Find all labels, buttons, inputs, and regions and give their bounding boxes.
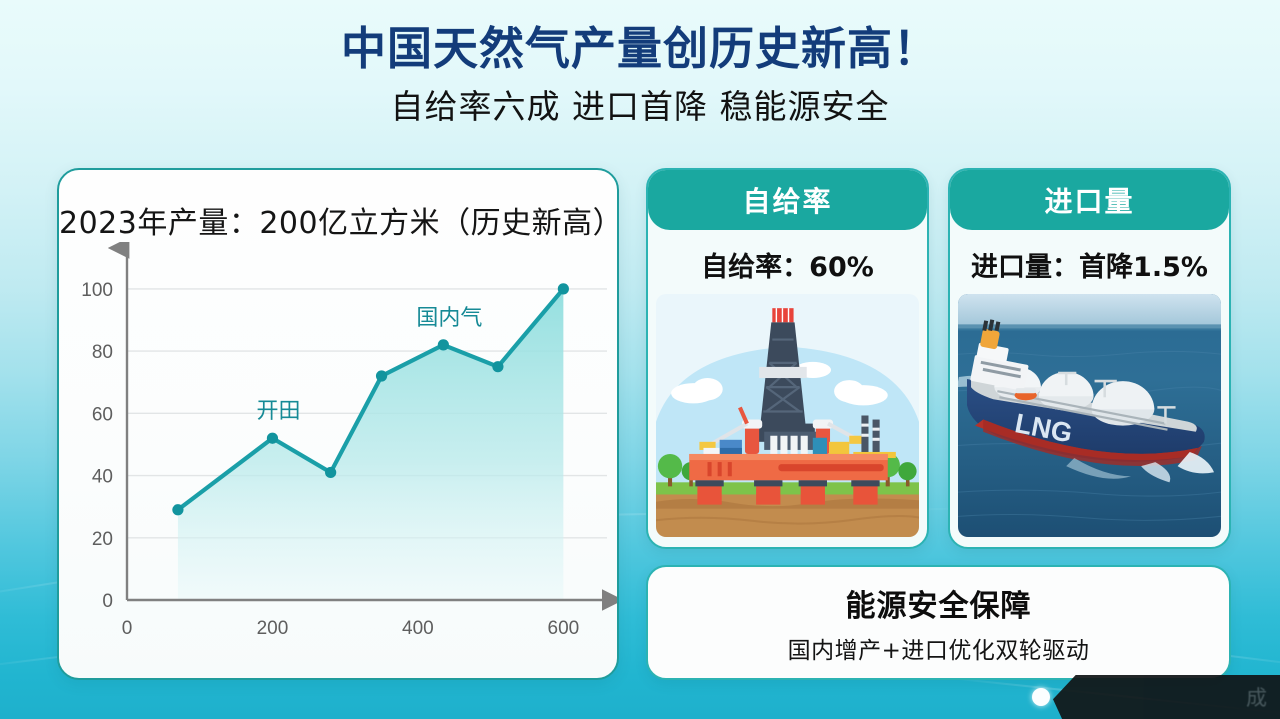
chart-title: 2023年产量：200亿立方米（历史新高） (59, 198, 617, 242)
energy-security-card: 能源安全保障 国内增产+进口优化双轮驱动 (646, 565, 1231, 680)
drilling-rig-illustration (656, 294, 919, 537)
chart-area-fill (178, 289, 563, 600)
x-axis-tick-label: 600 (548, 618, 580, 639)
y-axis-tick-label: 0 (102, 591, 113, 612)
page-title: 中国天然气产量创历史新高！ (0, 22, 1280, 75)
chart-annotation: 开田 (256, 399, 300, 424)
chart-data-point (376, 370, 387, 381)
header: 中国天然气产量创历史新高！ 自给率六成 进口首降 稳能源安全 (0, 22, 1280, 127)
x-axis-tick-label: 200 (257, 618, 289, 639)
y-axis-tick-label: 60 (92, 404, 113, 425)
energy-security-subtitle: 国内增产+进口优化双轮驱动 (788, 631, 1090, 665)
panel-imports-header-label: 进口量 (1044, 180, 1134, 220)
energy-security-title: 能源安全保障 (846, 581, 1032, 625)
y-axis-tick-label: 80 (92, 342, 113, 363)
y-axis-tick-label: 100 (81, 280, 113, 301)
chart-data-point (267, 433, 278, 444)
chart-data-point (172, 504, 183, 515)
y-axis-tick-label: 40 (92, 467, 113, 488)
watermark-badge: 成 (1053, 675, 1280, 719)
panel-self-sufficiency-stat: 自给率：60% (648, 245, 927, 284)
panel-self-sufficiency-header-label: 自给率 (742, 180, 832, 220)
panel-self-sufficiency: 自给率 自给率：60% (646, 168, 929, 549)
watermark-label: 成 (1246, 682, 1270, 712)
y-axis-tick-label: 20 (92, 529, 113, 550)
page-subtitle: 自给率六成 进口首降 稳能源安全 (0, 87, 1280, 127)
chart-data-point (492, 361, 503, 372)
panel-self-sufficiency-header: 自给率 (648, 170, 927, 230)
chart-data-point (438, 339, 449, 350)
panel-imports-stat: 进口量：首降1.5% (950, 245, 1229, 284)
x-axis-tick-label: 400 (402, 618, 434, 639)
production-area-chart: 020406080100开田国内气0200400600 (59, 242, 619, 672)
chart-data-point (558, 283, 569, 294)
production-chart-card: 2023年产量：200亿立方米（历史新高） 020406080100开田国内气0… (57, 168, 619, 680)
watermark-dot (1032, 688, 1050, 706)
panel-imports: 进口量 进口量：首降1.5% (948, 168, 1231, 549)
x-axis-tick-label: 0 (122, 618, 133, 639)
lng-carrier-photo: LNG (958, 294, 1221, 537)
chart-plot: 020406080100开田国内气0200400600 (59, 242, 619, 672)
panel-imports-header: 进口量 (950, 170, 1229, 230)
chart-annotation: 国内气 (416, 306, 482, 331)
chart-data-point (325, 467, 336, 478)
